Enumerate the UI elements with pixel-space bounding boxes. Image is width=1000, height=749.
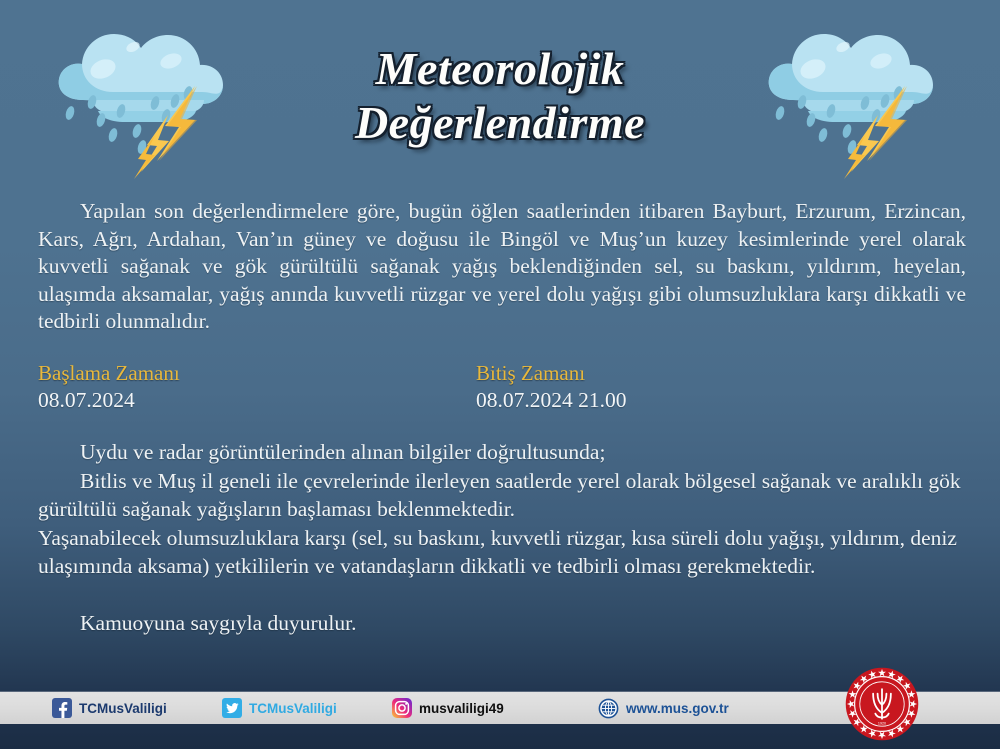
svg-text:1920: 1920 [878,722,886,726]
end-time-value: 08.07.2024 21.00 [476,386,627,414]
start-time-value: 08.07.2024 [38,386,180,414]
end-time-block: Bitiş Zamanı 08.07.2024 21.00 [476,360,627,414]
advisory-line-3: Yaşanabilecek olumsuzluklara karşı (sel,… [38,524,966,581]
main-warning-paragraph: Yapılan son değerlendirmelere göre, bugü… [38,198,966,336]
twitter-icon [222,698,242,718]
facebook-icon [52,698,72,718]
turkiye-valilik-emblem: 1920 [845,667,919,741]
social-link-website[interactable]: www.mus.gov.tr [598,692,729,724]
social-link-twitter[interactable]: TCMusValiligi [222,692,337,724]
start-time-label: Başlama Zamanı [38,360,180,386]
social-link-instagram[interactable]: musvaliligi49 [392,692,504,724]
social-link-facebook[interactable]: TCMusValiligi [52,692,167,724]
end-time-label: Bitiş Zamanı [476,360,627,386]
meteorological-warning-poster: Meteorolojik Değerlendirme Yapılan son d… [0,0,1000,749]
secondary-advisory-block: Uydu ve radar görüntülerinden alınan bil… [38,438,966,637]
twitter-handle: TCMusValiligi [249,701,337,716]
website-url: www.mus.gov.tr [626,701,729,716]
globe-icon [598,698,619,719]
storm-cloud-illustration-left [45,14,245,184]
advisory-closing: Kamuoyuna saygıyla duyurulur. [38,609,966,638]
storm-cloud-illustration-right [755,14,955,184]
advisory-line-1: Uydu ve radar görüntülerinden alınan bil… [38,438,966,467]
instagram-icon [392,698,412,718]
facebook-handle: TCMusValiligi [79,701,167,716]
advisory-line-2: Bitlis ve Muş il geneli ile çevrelerinde… [38,467,966,524]
start-time-block: Başlama Zamanı 08.07.2024 [38,360,180,414]
instagram-handle: musvaliligi49 [419,701,504,716]
warning-time-range: Başlama Zamanı 08.07.2024 Bitiş Zamanı 0… [38,360,966,420]
